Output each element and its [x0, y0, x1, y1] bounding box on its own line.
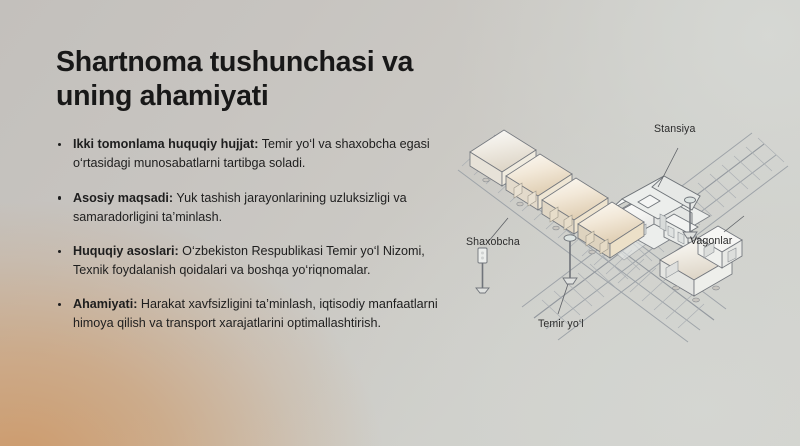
list-item: Huquqiy asoslari: O‘zbekiston Respublika… [56, 242, 441, 280]
list-item: Asosiy maqsadi: Yuk tashish jarayonlarin… [56, 189, 441, 227]
page-title: Shartnoma tushunchasi va uning ahamiyati [56, 46, 476, 113]
slide-canvas: Shartnoma tushunchasi va uning ahamiyati… [0, 0, 800, 446]
label-shaxobcha: Shaxobcha [466, 236, 520, 248]
railway-crossing-illustration [452, 92, 794, 360]
label-vagonlar: Vagonlar [690, 235, 732, 247]
bullet-dot-icon [58, 143, 61, 146]
list-item-lead: Huquqiy asoslari: [73, 244, 179, 258]
list-item: Ahamiyati: Harakat xavfsizligini ta’minl… [56, 295, 441, 333]
bullet-dot-icon [58, 196, 61, 199]
list-item: Ikki tomonlama huquqiy hujjat: Temir yo‘… [56, 135, 441, 173]
bullet-dot-icon [58, 250, 61, 253]
label-stansiya: Stansiya [654, 123, 695, 135]
label-temir-yol: Temir yo‘l [538, 318, 584, 330]
list-item-lead: Ahamiyati: [73, 297, 137, 311]
bullet-list: Ikki tomonlama huquqiy hujjat: Temir yo‘… [56, 135, 456, 333]
list-item-lead: Asosiy maqsadi: [73, 191, 173, 205]
bullet-dot-icon [58, 303, 61, 306]
text-column: Shartnoma tushunchasi va uning ahamiyati… [56, 46, 456, 333]
signal-post-branch [476, 248, 489, 293]
list-item-lead: Ikki tomonlama huquqiy hujjat: [73, 137, 258, 151]
leader-wagons [724, 216, 744, 232]
